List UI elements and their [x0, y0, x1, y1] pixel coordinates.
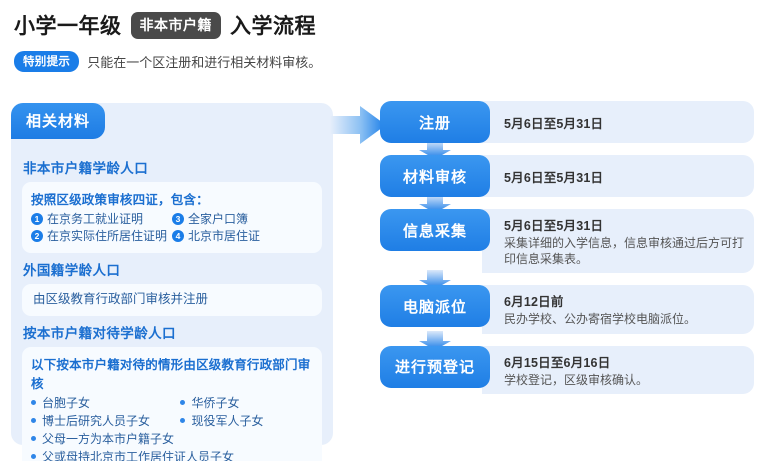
step-date: 6月15日至6月16日 — [504, 352, 744, 371]
flow-step-register: 注册 5月6日至5月31日 — [380, 101, 754, 143]
step-date: 5月6日至5月31日 — [504, 113, 744, 132]
title-row: 小学一年级 非本市户籍 入学流程 — [14, 10, 754, 40]
step-label[interactable]: 信息采集 — [380, 209, 490, 251]
step-label[interactable]: 电脑派位 — [380, 285, 490, 327]
step-label[interactable]: 材料审核 — [380, 155, 490, 197]
step-label[interactable]: 注册 — [380, 101, 490, 143]
flow-connector — [380, 197, 754, 209]
list-item-label: 父或母持北京市工作居住证人员子女 — [42, 449, 234, 461]
flow-step-computer-allocation: 电脑派位 6月12日前 民办学校、公办寄宿学校电脑派位。 — [380, 285, 754, 334]
flow-step-info-collection: 信息采集 5月6日至5月31日 采集详细的入学信息，信息审核通过后方可打印信息采… — [380, 209, 754, 273]
list-item: 2 在京实际住所居住证明 — [31, 228, 172, 244]
page-header: 小学一年级 非本市户籍 入学流程 特别提示 只能在一个区注册和进行相关材料审核。 — [14, 10, 754, 71]
enrollment-flow: 注册 5月6日至5月31日 材料审核 5月6日至5月31日 — [380, 101, 754, 394]
section-card-non-local: 按照区级政策审核四证，包含： 1 在京务工就业证明 3 全家户口簿 2 在京实际… — [22, 182, 322, 253]
special-notice-text: 只能在一个区注册和进行相关材料审核。 — [87, 52, 321, 71]
flow-connector — [380, 273, 754, 285]
list-item-label: 华侨子女 — [191, 395, 239, 411]
flow-step-pre-registration: 进行预登记 6月15日至6月16日 学校登记，区级审核确认。 — [380, 346, 754, 395]
number-badge-1: 1 — [31, 213, 43, 225]
card-text-foreign: 由区级教育行政部门审核并注册 — [31, 291, 313, 308]
treated-local-list: 台胞子女 华侨子女 博士后研究人员子女 现役军人子女 — [31, 395, 313, 461]
step-date: 6月12日前 — [504, 291, 744, 310]
list-item: 现役军人子女 — [180, 413, 313, 429]
materials-panel: 相关材料 非本市户籍学龄人口 按照区级政策审核四证，包含： 1 在京务工就业证明… — [11, 103, 333, 445]
list-item: 4 北京市居住证 — [172, 228, 313, 244]
materials-panel-tab: 相关材料 — [11, 103, 105, 139]
step-description: 民办学校、公办寄宿学校电脑派位。 — [504, 312, 744, 328]
list-item: 华侨子女 — [180, 395, 313, 411]
step-detail-panel: 5月6日至5月31日 采集详细的入学信息，信息审核通过后方可打印信息采集表。 — [482, 209, 754, 273]
number-badge-3: 3 — [172, 213, 184, 225]
list-item: 3 全家户口簿 — [172, 211, 313, 227]
flow-connector — [380, 334, 754, 346]
step-date: 5月6日至5月31日 — [504, 167, 744, 186]
step-detail-panel: 5月6日至5月31日 — [482, 101, 754, 143]
number-badge-4: 4 — [172, 230, 184, 242]
list-item: 台胞子女 — [31, 395, 180, 411]
step-date: 5月6日至5月31日 — [504, 215, 744, 234]
step-description: 学校登记，区级审核确认。 — [504, 373, 744, 389]
list-item-label: 父母一方为本市户籍子女 — [42, 431, 174, 447]
special-notice-badge: 特别提示 — [14, 51, 79, 72]
list-item: 父母一方为本市户籍子女 — [31, 431, 313, 447]
title-category-badge: 非本市户籍 — [131, 12, 222, 39]
bullet-dot-icon — [31, 454, 36, 459]
bullet-dot-icon — [180, 400, 185, 405]
step-detail-panel: 5月6日至5月31日 — [482, 155, 754, 197]
section-heading-foreign: 外国籍学龄人口 — [23, 259, 322, 279]
step-detail-panel: 6月15日至6月16日 学校登记，区级审核确认。 — [482, 346, 754, 395]
four-certs-list: 1 在京务工就业证明 3 全家户口簿 2 在京实际住所居住证明 4 北京市居住证 — [31, 211, 313, 245]
bullet-dot-icon — [31, 436, 36, 441]
step-label[interactable]: 进行预登记 — [380, 346, 490, 388]
list-item-label: 台胞子女 — [42, 395, 90, 411]
flow-connector — [380, 143, 754, 155]
card-title-four-certs: 按照区级政策审核四证，包含： — [31, 189, 313, 208]
infographic-page: 小学一年级 非本市户籍 入学流程 特别提示 只能在一个区注册和进行相关材料审核。… — [0, 0, 766, 461]
section-heading-treated-local: 按本市户籍对待学龄人口 — [23, 322, 322, 342]
bullet-dot-icon — [31, 418, 36, 423]
list-item-label: 全家户口簿 — [188, 211, 248, 227]
section-card-treated-local: 以下按本市户籍对待的情形由区级教育行政部门审核 台胞子女 华侨子女 博士后研究人… — [22, 347, 322, 461]
list-item-label: 北京市居住证 — [188, 228, 260, 244]
list-item: 博士后研究人员子女 — [31, 413, 180, 429]
list-item: 1 在京务工就业证明 — [31, 211, 172, 227]
section-card-foreign: 由区级教育行政部门审核并注册 — [22, 284, 322, 316]
page-title-prefix: 小学一年级 — [14, 10, 122, 40]
card-title-treated-local: 以下按本市户籍对待的情形由区级教育行政部门审核 — [31, 354, 313, 392]
flow-step-material-review: 材料审核 5月6日至5月31日 — [380, 155, 754, 197]
list-item-label: 现役军人子女 — [191, 413, 263, 429]
list-item-label: 在京实际住所居住证明 — [47, 228, 167, 244]
notice-row: 特别提示 只能在一个区注册和进行相关材料审核。 — [14, 52, 754, 71]
section-heading-non-local: 非本市户籍学龄人口 — [23, 157, 322, 177]
bullet-dot-icon — [180, 418, 185, 423]
step-detail-panel: 6月12日前 民办学校、公办寄宿学校电脑派位。 — [482, 285, 754, 334]
bullet-dot-icon — [31, 400, 36, 405]
materials-panel-body: 非本市户籍学龄人口 按照区级政策审核四证，包含： 1 在京务工就业证明 3 全家… — [11, 143, 333, 461]
list-item-label: 博士后研究人员子女 — [42, 413, 150, 429]
page-title-suffix: 入学流程 — [230, 10, 316, 40]
list-item-label: 在京务工就业证明 — [47, 211, 143, 227]
number-badge-2: 2 — [31, 230, 43, 242]
step-description: 采集详细的入学信息，信息审核通过后方可打印信息采集表。 — [504, 236, 744, 267]
list-item: 父或母持北京市工作居住证人员子女 — [31, 449, 313, 461]
